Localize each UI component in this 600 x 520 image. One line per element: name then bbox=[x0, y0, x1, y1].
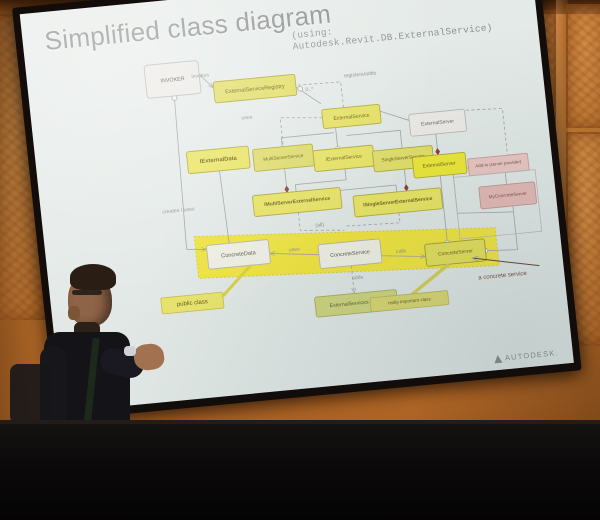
edge-label-invokes: invokes bbox=[191, 72, 210, 80]
presenter-glasses bbox=[72, 290, 102, 295]
edge-label-uses-bottom: uses bbox=[289, 246, 301, 253]
edge-label-all: (all) bbox=[315, 222, 325, 229]
edge-label-calls: calls bbox=[396, 248, 407, 255]
presenter-chin bbox=[68, 306, 80, 320]
presenter-wristband bbox=[124, 346, 136, 356]
node-externalservice[interactable]: ExternalService bbox=[322, 104, 382, 128]
stage-front bbox=[0, 424, 600, 520]
node-externalserver[interactable]: ExternalServer bbox=[412, 152, 467, 178]
screenshot-root: Simplified class diagram (using: Autodes… bbox=[0, 0, 600, 520]
node-isingleserverexternalservice[interactable]: ISingleServerExternalService bbox=[353, 188, 443, 217]
annotation-a-concrete-service: a concrete service bbox=[478, 271, 528, 282]
node-iexternaldata[interactable]: IExternalData bbox=[186, 146, 250, 174]
edge-label-registers: registers/adds bbox=[344, 70, 377, 79]
presenter-shoulder bbox=[10, 364, 50, 424]
node-myconcreteserver[interactable]: MyConcreteServer bbox=[479, 182, 537, 209]
autodesk-logo-icon bbox=[494, 354, 503, 363]
node-iexternalservice[interactable]: IExternalService bbox=[313, 145, 375, 172]
node-multiserverservice[interactable]: MultiServerService bbox=[252, 144, 314, 172]
edge-label-creates-uses: creates / uses bbox=[162, 206, 195, 215]
wall-panel bbox=[566, 4, 600, 128]
edge-label-multiplicity: 0..* bbox=[305, 87, 313, 94]
node-externalserviceregistry[interactable]: ExternalServiceRegistry bbox=[213, 74, 297, 103]
presenter-hair bbox=[70, 264, 116, 290]
node-imultiserverexternalservice[interactable]: IMultiServerExternalService bbox=[252, 187, 342, 216]
node-externalserver-grey[interactable]: ExternalServer bbox=[409, 109, 467, 136]
edge-label-adds: adds bbox=[352, 275, 364, 282]
edge-label-uses-top: uses bbox=[241, 114, 253, 121]
